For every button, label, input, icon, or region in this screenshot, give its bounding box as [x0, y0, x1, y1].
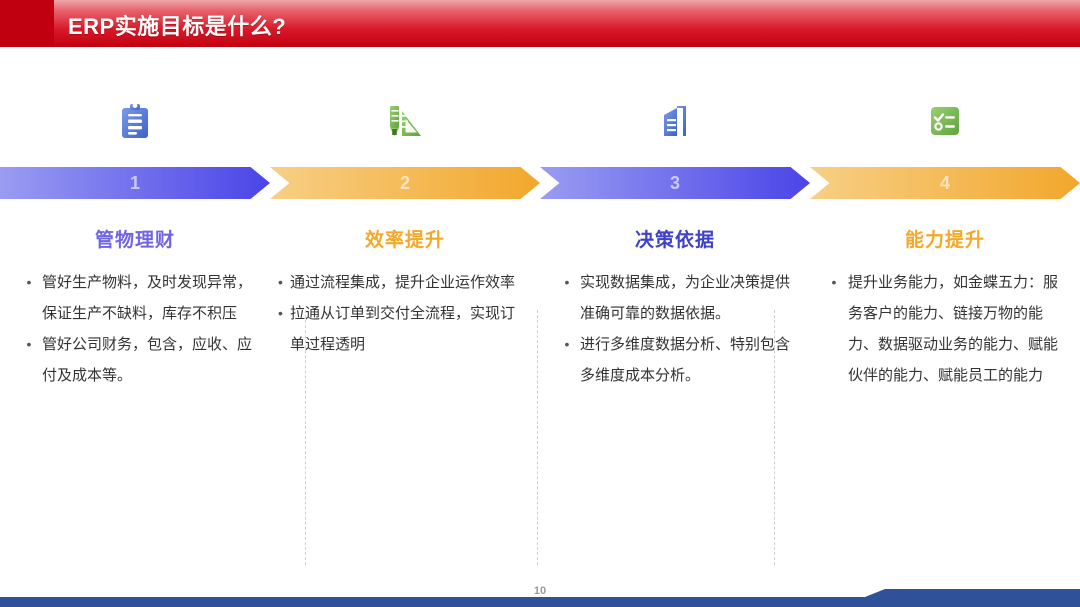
bullet-text: 管好公司财务，包含，应收、应付及成本等。 [42, 329, 260, 391]
step-bullets-3: • 实现数据集成，为企业决策提供准确可靠的数据依据。 • 进行多维度数据分析、特… [540, 267, 810, 391]
pencil-ruler-icon [270, 95, 540, 147]
step-title-4: 能力提升 [810, 225, 1080, 252]
slide: ERP实施目标是什么? [0, 0, 1080, 607]
steps-container: 1 管物理财 • 管好生产物料，及时发现异常，保证生产不缺料，库存不积压 • 管… [0, 95, 1080, 495]
list-item: • 提升业务能力，如金蝶五力：服务客户的能力、链接万物的能力、数据驱动业务的能力… [820, 267, 1072, 391]
step-bullets-4: • 提升业务能力，如金蝶五力：服务客户的能力、链接万物的能力、数据驱动业务的能力… [810, 267, 1080, 391]
page-title: ERP实施目标是什么? [68, 9, 286, 41]
bullet-dot: • [554, 329, 580, 360]
step-number-3: 3 [540, 167, 810, 199]
slide-header: ERP实施目标是什么? [0, 0, 1080, 47]
clipboard-icon [0, 95, 270, 147]
step-bullets-1: • 管好生产物料，及时发现异常，保证生产不缺料，库存不积压 • 管好公司财务，包… [0, 267, 270, 391]
bullet-dot: • [278, 298, 290, 329]
step-number-4: 4 [810, 167, 1080, 199]
step-arrow-3: 3 [540, 167, 810, 199]
step-column-4: 4 能力提升 • 提升业务能力，如金蝶五力：服务客户的能力、链接万物的能力、数据… [810, 95, 1080, 495]
list-item: • 管好公司财务，包含，应收、应付及成本等。 [16, 329, 260, 391]
factory-icon [540, 95, 810, 147]
step-column-2: 2 效率提升 • 通过流程集成，提升企业运作效率 • 拉通从订单到交付全流程，实… [270, 95, 540, 495]
column-divider-1 [305, 310, 306, 565]
list-item: • 实现数据集成，为企业决策提供准确可靠的数据依据。 [554, 267, 802, 329]
bullet-text: 实现数据集成，为企业决策提供准确可靠的数据依据。 [580, 267, 802, 329]
bullet-text: 通过流程集成，提升企业运作效率 [290, 267, 522, 298]
bullet-dot: • [16, 267, 42, 298]
list-item: • 管好生产物料，及时发现异常，保证生产不缺料，库存不积压 [16, 267, 260, 329]
step-number-2: 2 [270, 167, 540, 199]
bullet-text: 拉通从订单到交付全流程，实现订单过程透明 [290, 298, 522, 360]
checklist-icon [810, 95, 1080, 147]
list-item: • 拉通从订单到交付全流程，实现订单过程透明 [278, 298, 522, 360]
step-arrow-4: 4 [810, 167, 1080, 199]
step-number-1: 1 [0, 167, 270, 199]
step-title-3: 决策依据 [540, 225, 810, 252]
bullet-dot: • [278, 267, 290, 298]
list-item: • 进行多维度数据分析、特别包含多维度成本分析。 [554, 329, 802, 391]
bullet-dot: • [820, 267, 848, 298]
column-divider-3 [774, 310, 775, 565]
footer-bar [0, 589, 1080, 607]
bullet-text: 进行多维度数据分析、特别包含多维度成本分析。 [580, 329, 802, 391]
bullet-dot: • [16, 329, 42, 360]
bullet-text: 提升业务能力，如金蝶五力：服务客户的能力、链接万物的能力、数据驱动业务的能力、赋… [848, 267, 1072, 391]
step-column-3: 3 决策依据 • 实现数据集成，为企业决策提供准确可靠的数据依据。 • 进行多维… [540, 95, 810, 495]
step-arrow-2: 2 [270, 167, 540, 199]
step-column-1: 1 管物理财 • 管好生产物料，及时发现异常，保证生产不缺料，库存不积压 • 管… [0, 95, 270, 495]
list-item: • 通过流程集成，提升企业运作效率 [278, 267, 522, 298]
header-left-accent-block [0, 0, 54, 47]
column-divider-2 [537, 310, 538, 565]
bullet-text: 管好生产物料，及时发现异常，保证生产不缺料，库存不积压 [42, 267, 260, 329]
bullet-dot: • [554, 267, 580, 298]
step-title-2: 效率提升 [270, 225, 540, 252]
step-title-1: 管物理财 [0, 225, 270, 252]
step-arrow-1: 1 [0, 167, 270, 199]
step-bullets-2: • 通过流程集成，提升企业运作效率 • 拉通从订单到交付全流程，实现订单过程透明 [270, 267, 540, 360]
